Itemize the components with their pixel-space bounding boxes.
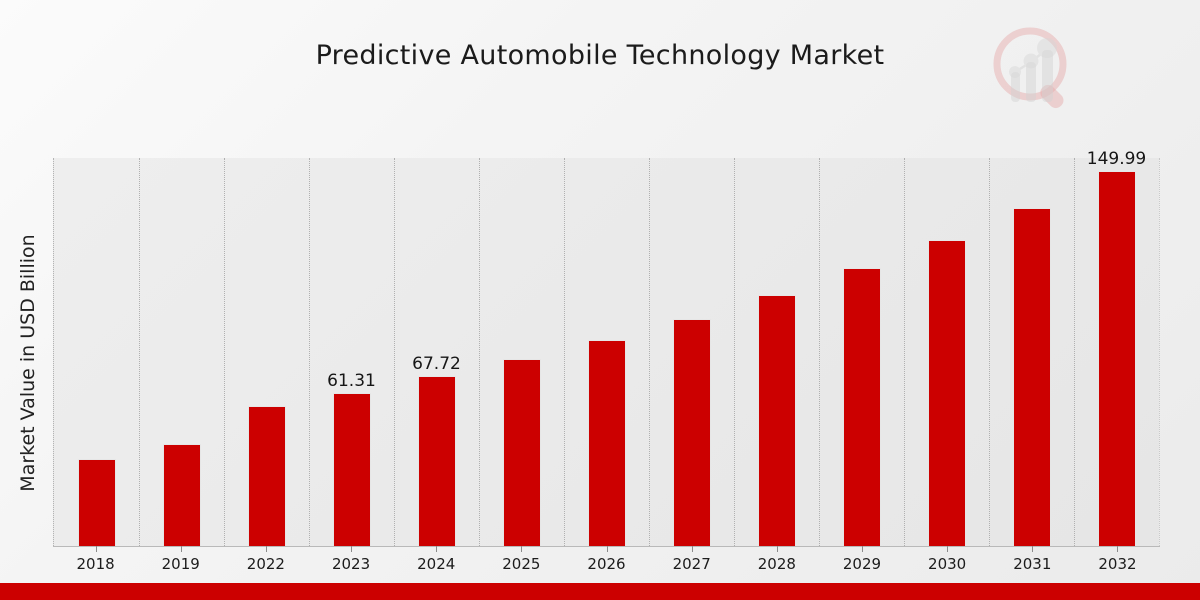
tick-mark — [1032, 546, 1033, 552]
bar-slot: 67.72 — [394, 158, 479, 546]
bar-value-label-2024: 67.72 — [412, 354, 461, 374]
bar-series: 61.3167.72149.99 — [54, 158, 1159, 546]
bar-slot — [479, 158, 564, 546]
y-axis-title: Market Value in USD Billion — [17, 163, 39, 563]
x-tick-2028: 2028 — [734, 546, 819, 574]
x-tick-label: 2029 — [843, 555, 881, 574]
plot-area: 61.3167.72149.99 — [53, 158, 1160, 546]
bar-2018[interactable] — [78, 459, 116, 546]
x-tick-2022: 2022 — [223, 546, 308, 574]
x-tick-2018: 2018 — [53, 546, 138, 574]
bar-slot: 61.31 — [309, 158, 394, 546]
bar-2028[interactable] — [758, 295, 796, 546]
bar-2022[interactable] — [248, 406, 286, 546]
x-tick-label: 2030 — [928, 555, 966, 574]
tick-mark — [692, 546, 693, 552]
bar-2023[interactable]: 61.31 — [333, 393, 371, 546]
x-tick-label: 2019 — [162, 555, 200, 574]
bar-value-label-2023: 61.31 — [327, 371, 376, 391]
bar-slot — [904, 158, 989, 546]
tick-mark — [266, 546, 267, 552]
bar-2030[interactable] — [928, 240, 966, 546]
bar-2032[interactable]: 149.99 — [1098, 171, 1136, 546]
x-tick-2032: 2032 — [1075, 546, 1160, 574]
x-tick-label: 2018 — [76, 555, 114, 574]
tick-mark — [351, 546, 352, 552]
bar-slot — [224, 158, 309, 546]
x-axis-tick-labels: 2018201920222023202420252026202720282029… — [53, 546, 1160, 574]
x-tick-2024: 2024 — [394, 546, 479, 574]
x-tick-2025: 2025 — [479, 546, 564, 574]
bar-2027[interactable] — [673, 319, 711, 546]
x-tick-label: 2025 — [502, 555, 540, 574]
tick-mark — [607, 546, 608, 552]
x-tick-2026: 2026 — [564, 546, 649, 574]
x-tick-label: 2028 — [758, 555, 796, 574]
bar-2019[interactable] — [163, 444, 201, 546]
x-tick-label: 2026 — [587, 555, 625, 574]
bar-2031[interactable] — [1013, 208, 1051, 546]
bar-2024[interactable]: 67.72 — [418, 376, 456, 546]
x-tick-label: 2027 — [673, 555, 711, 574]
bar-slot — [819, 158, 904, 546]
x-tick-2029: 2029 — [819, 546, 904, 574]
bar-2026[interactable] — [588, 340, 626, 546]
x-tick-2019: 2019 — [138, 546, 223, 574]
bar-slot — [54, 158, 139, 546]
tick-mark — [777, 546, 778, 552]
tick-mark — [181, 546, 182, 552]
chart-title: Predictive Automobile Technology Market — [0, 40, 1200, 71]
bar-slot: 149.99 — [1074, 158, 1159, 546]
bar-slot — [734, 158, 819, 546]
x-tick-2030: 2030 — [905, 546, 990, 574]
tick-mark — [862, 546, 863, 552]
x-tick-label: 2031 — [1013, 555, 1051, 574]
x-tick-label: 2032 — [1098, 555, 1136, 574]
x-tick-label: 2024 — [417, 555, 455, 574]
x-tick-label: 2023 — [332, 555, 370, 574]
tick-mark — [96, 546, 97, 552]
bar-value-label-2032: 149.99 — [1087, 149, 1146, 169]
bar-slot — [564, 158, 649, 546]
x-tick-2027: 2027 — [649, 546, 734, 574]
tick-mark — [947, 546, 948, 552]
footer-accent-bar — [0, 583, 1200, 600]
bar-slot — [989, 158, 1074, 546]
bar-2029[interactable] — [843, 268, 881, 546]
bar-slot — [649, 158, 734, 546]
x-tick-2023: 2023 — [308, 546, 393, 574]
bar-2025[interactable] — [503, 359, 541, 546]
tick-mark — [1117, 546, 1118, 552]
bar-slot — [139, 158, 224, 546]
tick-mark — [436, 546, 437, 552]
x-tick-2031: 2031 — [990, 546, 1075, 574]
tick-mark — [521, 546, 522, 552]
x-tick-label: 2022 — [247, 555, 285, 574]
